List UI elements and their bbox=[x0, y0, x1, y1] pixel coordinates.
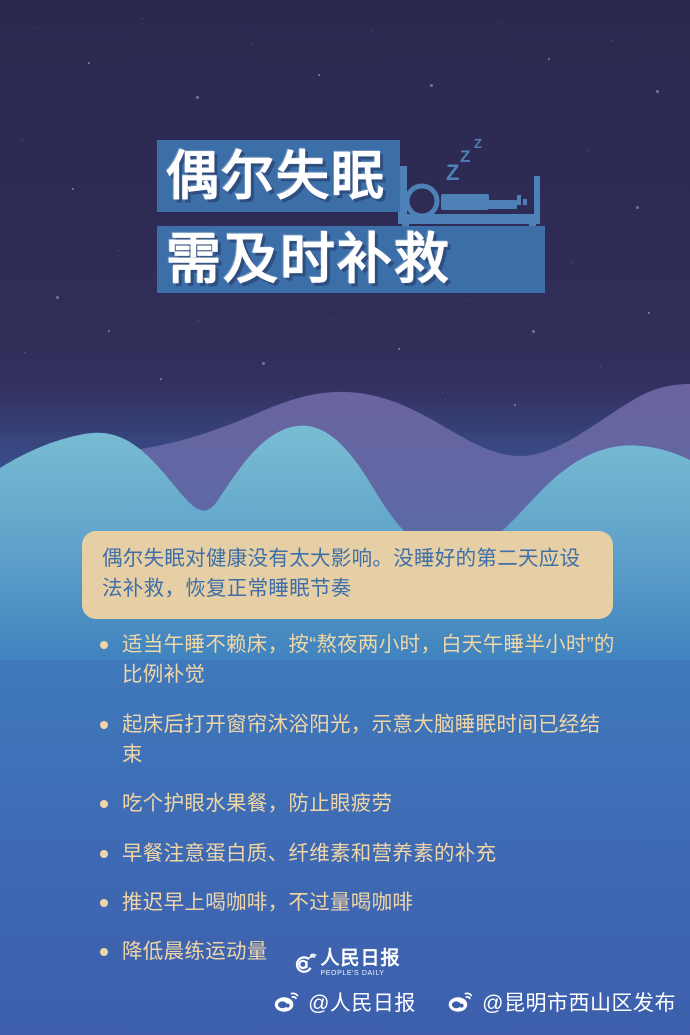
tip-text: 吃个护眼水果餐，防止眼疲劳 bbox=[122, 789, 392, 819]
weibo-handle-peoples-daily: @人民日报 bbox=[274, 987, 416, 1017]
weibo-handle-publisher: @昆明市西山区发布 bbox=[448, 987, 676, 1017]
peoples-daily-logo: 人民日报 PEOPLE'S DAILY bbox=[289, 949, 400, 979]
list-item: 推迟早上喝咖啡，不过量喝咖啡 bbox=[100, 888, 620, 918]
title-banner-line1: 偶尔失眠 bbox=[157, 140, 400, 212]
poster-root: Z Z Z bbox=[0, 0, 690, 1035]
bullet-dot-icon bbox=[100, 721, 108, 729]
weibo-icon bbox=[274, 991, 299, 1013]
title-banner-line2: 需及时补救 bbox=[157, 226, 545, 293]
brand-name-cn: 人民日报 bbox=[320, 949, 400, 968]
weibo-handle-label: @昆明市西山区发布 bbox=[482, 987, 676, 1017]
intro-callout: 偶尔失眠对健康没有太大影响。没睡好的第二天应设法补救，恢复正常睡眠节奏 bbox=[82, 531, 613, 619]
at-sign-icon bbox=[289, 951, 316, 978]
footer: 人民日报 PEOPLE'S DAILY @人民日报 bbox=[0, 943, 690, 1035]
tip-text: 起床后打开窗帘沐浴阳光，示意大脑睡眠时间已经结束 bbox=[122, 710, 620, 771]
intro-text: 偶尔失眠对健康没有太大影响。没睡好的第二天应设法补救，恢复正常睡眠节奏 bbox=[102, 544, 593, 605]
tip-text: 推迟早上喝咖啡，不过量喝咖啡 bbox=[122, 888, 413, 918]
sleeping-in-bed-icon: Z Z Z bbox=[398, 118, 558, 238]
list-item: 适当午睡不赖床，按“熬夜两小时，白天午睡半小时”的比例补觉 bbox=[100, 630, 620, 691]
svg-text:Z: Z bbox=[460, 147, 470, 166]
brand-name-en: PEOPLE'S DAILY bbox=[320, 968, 384, 979]
list-item: 吃个护眼水果餐，防止眼疲劳 bbox=[100, 789, 620, 819]
bullet-dot-icon bbox=[100, 800, 108, 808]
weibo-handle-label: @人民日报 bbox=[308, 987, 416, 1017]
bullet-dot-icon bbox=[100, 641, 108, 649]
svg-text:Z: Z bbox=[446, 160, 459, 185]
tips-list: 适当午睡不赖床，按“熬夜两小时，白天午睡半小时”的比例补觉 起床后打开窗帘沐浴阳… bbox=[100, 630, 620, 987]
bullet-dot-icon bbox=[100, 850, 108, 858]
tip-text: 适当午睡不赖床，按“熬夜两小时，白天午睡半小时”的比例补觉 bbox=[122, 630, 620, 691]
page-title-line2: 需及时补救 bbox=[166, 232, 451, 287]
page-title-line1: 偶尔失眠 bbox=[166, 150, 386, 203]
list-item: 起床后打开窗帘沐浴阳光，示意大脑睡眠时间已经结束 bbox=[100, 710, 620, 771]
bullet-dot-icon bbox=[100, 899, 108, 907]
tip-text: 早餐注意蛋白质、纤维素和营养素的补充 bbox=[122, 839, 496, 869]
svg-text:Z: Z bbox=[474, 136, 482, 151]
list-item: 早餐注意蛋白质、纤维素和营养素的补充 bbox=[100, 839, 620, 869]
weibo-icon bbox=[448, 991, 473, 1013]
brand-wordmark: 人民日报 PEOPLE'S DAILY bbox=[320, 949, 400, 979]
